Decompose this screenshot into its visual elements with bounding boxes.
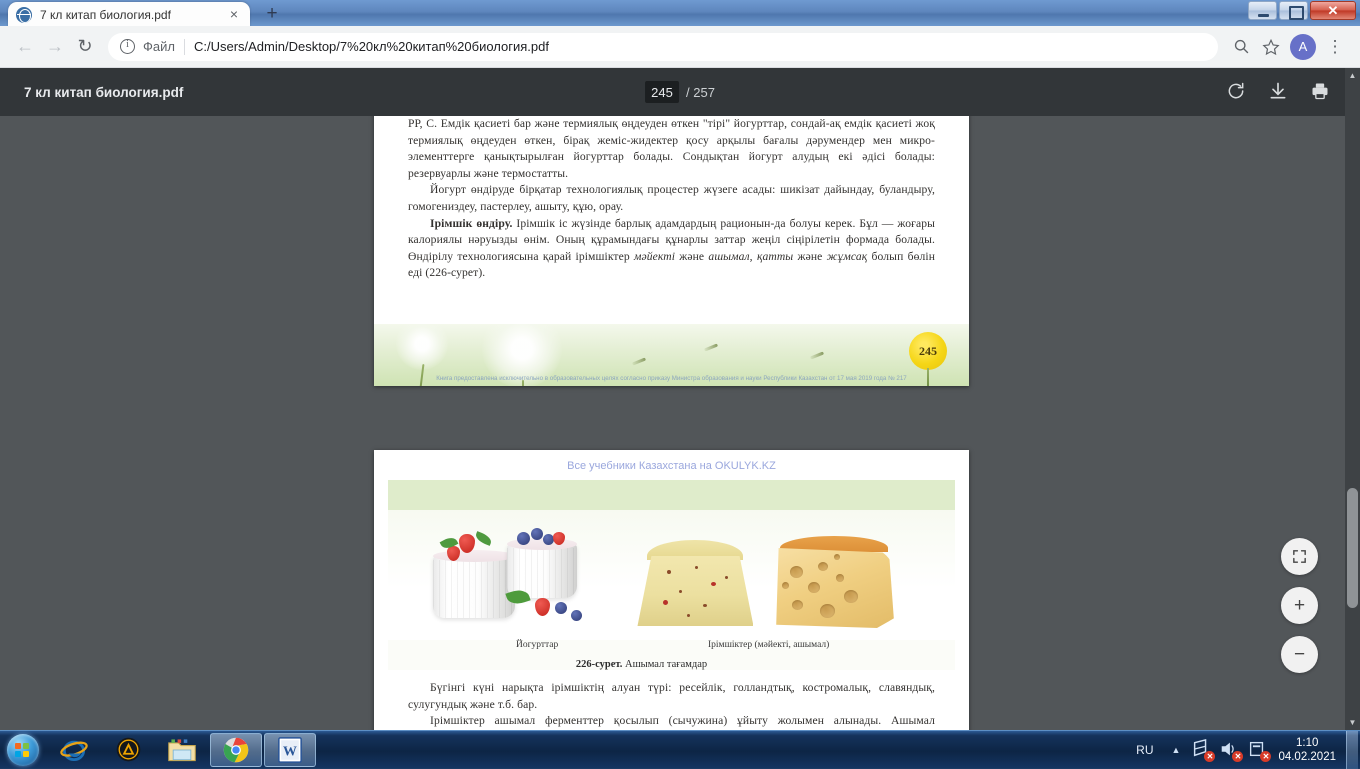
page-number-input[interactable] [645, 81, 679, 103]
pdf-filename: 7 кл китап биология.pdf [24, 85, 183, 100]
scrollbar-thumb[interactable] [1347, 488, 1358, 608]
minimize-button[interactable] [1248, 1, 1277, 20]
page-number-badge: 245 [909, 332, 947, 370]
scroll-up-arrow[interactable]: ▲ [1345, 68, 1360, 83]
windows-logo-icon [7, 734, 39, 766]
taskbar-item-aimp[interactable] [102, 733, 154, 767]
pdf-toolbar: 7 кл китап биология.pdf / 257 [0, 68, 1360, 116]
yogurt-illustration [419, 510, 609, 636]
close-icon[interactable]: × [226, 7, 242, 23]
page245-paragraph-2: Йогурт өндіруде бірқатар технологиялық п… [408, 182, 935, 215]
chrome-menu-button[interactable]: ⋮ [1320, 32, 1350, 62]
maximize-restore-button[interactable] [1279, 1, 1308, 20]
figure-captions: Йогурттар Ірімшіктер (мәйекті, ашымал) [388, 640, 955, 658]
pdf-zoom-controls: + − [1281, 538, 1318, 673]
pdf-toolbar-actions [1226, 81, 1332, 103]
cheese-block-illustration [631, 510, 761, 636]
action-center-icon[interactable]: ✕ [1247, 739, 1269, 761]
page246-paragraph-1: Бүгінгі күні нарықта ірімшіктің алуан тү… [408, 680, 935, 713]
dandelion-decoration: 245 Книга предоставлена исключительно в … [374, 324, 969, 386]
fit-to-page-icon[interactable] [1281, 538, 1318, 575]
page245-italic-1: мәйекті [634, 250, 675, 263]
page246-paragraph-2: Ірімшіктер ашымал ферменттер қосылып (сы… [408, 713, 935, 730]
figure-images [388, 510, 955, 640]
scheme-label: Файл [143, 39, 175, 54]
avatar[interactable]: A [1290, 34, 1316, 60]
figure-title-text: Ашымал тағамдар [622, 659, 707, 670]
taskbar-item-microsoft-word[interactable]: W [264, 733, 316, 767]
pdf-scrollbar[interactable]: ▲ ▼ [1345, 68, 1360, 730]
show-hidden-icons-button[interactable]: ▲ [1164, 745, 1189, 755]
figure-caption-right: Ірімшіктер (мәйекті, ашымал) [708, 640, 829, 650]
rotate-icon[interactable] [1226, 81, 1248, 103]
new-tab-button[interactable]: + [258, 3, 286, 25]
star-icon[interactable] [1256, 32, 1286, 62]
chrome-icon [222, 736, 250, 764]
close-window-button[interactable]: ✕ [1310, 1, 1356, 20]
page-total-label: / 257 [686, 85, 715, 100]
clock[interactable]: 1:10 04.02.2021 [1272, 736, 1346, 764]
tab-strip: 7 кл китап биология.pdf × + [0, 0, 1360, 26]
figure-number: 226-сурет. [576, 659, 623, 670]
pdf-page-246: Все учебники Казахстана на OKULYK.KZ [374, 450, 969, 730]
swiss-cheese-illustration [784, 510, 924, 636]
page245-run-c: және [793, 250, 826, 263]
figure-green-band [388, 480, 955, 510]
forward-button[interactable]: → [40, 32, 70, 62]
svg-text:W: W [283, 744, 297, 759]
error-badge: ✕ [1204, 751, 1215, 762]
address-bar[interactable]: Файл C:/Users/Admin/Desktop/7%20кл%20кит… [108, 33, 1218, 61]
tab-title: 7 кл китап биология.pdf [40, 8, 226, 22]
figure-226: Йогурттар Ірімшіктер (мәйекті, ашымал) 2… [388, 480, 955, 670]
volume-icon[interactable]: ✕ [1219, 739, 1241, 761]
globe-icon [16, 7, 32, 23]
omnibox-divider [184, 39, 185, 55]
browser-titlebar: 7 кл китап биология.pdf × + ✕ [0, 0, 1360, 26]
taskbar-item-google-chrome[interactable] [210, 733, 262, 767]
network-icon[interactable]: ✕ [1191, 739, 1213, 761]
pdf-page-container[interactable]: РР, С. Емдік қасиеті бар және термиялық … [0, 116, 1345, 730]
clock-time: 1:10 [1278, 736, 1336, 750]
start-button[interactable] [0, 732, 46, 768]
page245-heading-run: Ірімшік өндіру. [430, 217, 512, 230]
folder-icon [167, 737, 197, 763]
language-indicator[interactable]: RU [1126, 743, 1163, 757]
internet-explorer-icon [60, 736, 88, 764]
search-icon[interactable] [1226, 32, 1256, 62]
page245-paragraph-1: РР, С. Емдік қасиеті бар және термиялық … [408, 116, 935, 182]
system-tray: RU ▲ ✕ ✕ ✕ [1126, 731, 1360, 769]
reload-button[interactable]: ↻ [70, 32, 100, 62]
pdf-pager: / 257 [645, 81, 715, 103]
page-info-icon[interactable] [120, 39, 135, 54]
word-icon: W [277, 736, 303, 764]
show-desktop-button[interactable] [1346, 731, 1358, 769]
windows-taskbar: W RU ▲ ✕ ✕ [0, 730, 1360, 768]
pdf-viewer: 7 кл китап биология.pdf / 257 [0, 68, 1360, 730]
back-button[interactable]: ← [10, 32, 40, 62]
zoom-out-button[interactable]: − [1281, 636, 1318, 673]
page245-italic-3: қатты [757, 250, 793, 263]
page245-italic-4: жұмсақ [827, 250, 868, 263]
zoom-in-button[interactable]: + [1281, 587, 1318, 624]
taskbar-item-internet-explorer[interactable] [48, 733, 100, 767]
tab-pdf-document[interactable]: 7 кл китап биология.pdf × [8, 2, 250, 28]
okulyk-banner: Все учебники Казахстана на OKULYK.KZ [374, 450, 969, 478]
browser-window: 7 кл китап биология.pdf × + ✕ ← → ↻ Файл… [0, 0, 1360, 768]
taskbar-item-file-explorer[interactable] [156, 733, 208, 767]
print-icon[interactable] [1310, 81, 1332, 103]
figure-caption-left: Йогурттар [516, 640, 558, 650]
pdf-page-245: РР, С. Емдік қасиеті бар және термиялық … [374, 116, 969, 386]
scroll-down-arrow[interactable]: ▼ [1345, 715, 1360, 730]
page245-paragraph-3: Ірімшік өндіру. Ірімшік іс жүзінде барлы… [408, 216, 935, 282]
error-badge: ✕ [1260, 751, 1271, 762]
page245-italic-2: ашымал, [708, 250, 752, 263]
page245-run-b: және [675, 250, 708, 263]
address-bar-url: C:/Users/Admin/Desktop/7%20кл%20китап%20… [194, 39, 549, 54]
aimp-icon [115, 736, 142, 763]
error-badge: ✕ [1232, 751, 1243, 762]
clock-date: 04.02.2021 [1278, 750, 1336, 764]
legal-watermark: Книга предоставлена исключительно в обра… [374, 375, 969, 383]
download-icon[interactable] [1268, 81, 1290, 103]
window-controls: ✕ [1248, 1, 1356, 20]
browser-toolbar: ← → ↻ Файл C:/Users/Admin/Desktop/7%20кл… [0, 26, 1360, 68]
figure-title: 226-сурет. Ашымал тағамдар [388, 659, 955, 670]
